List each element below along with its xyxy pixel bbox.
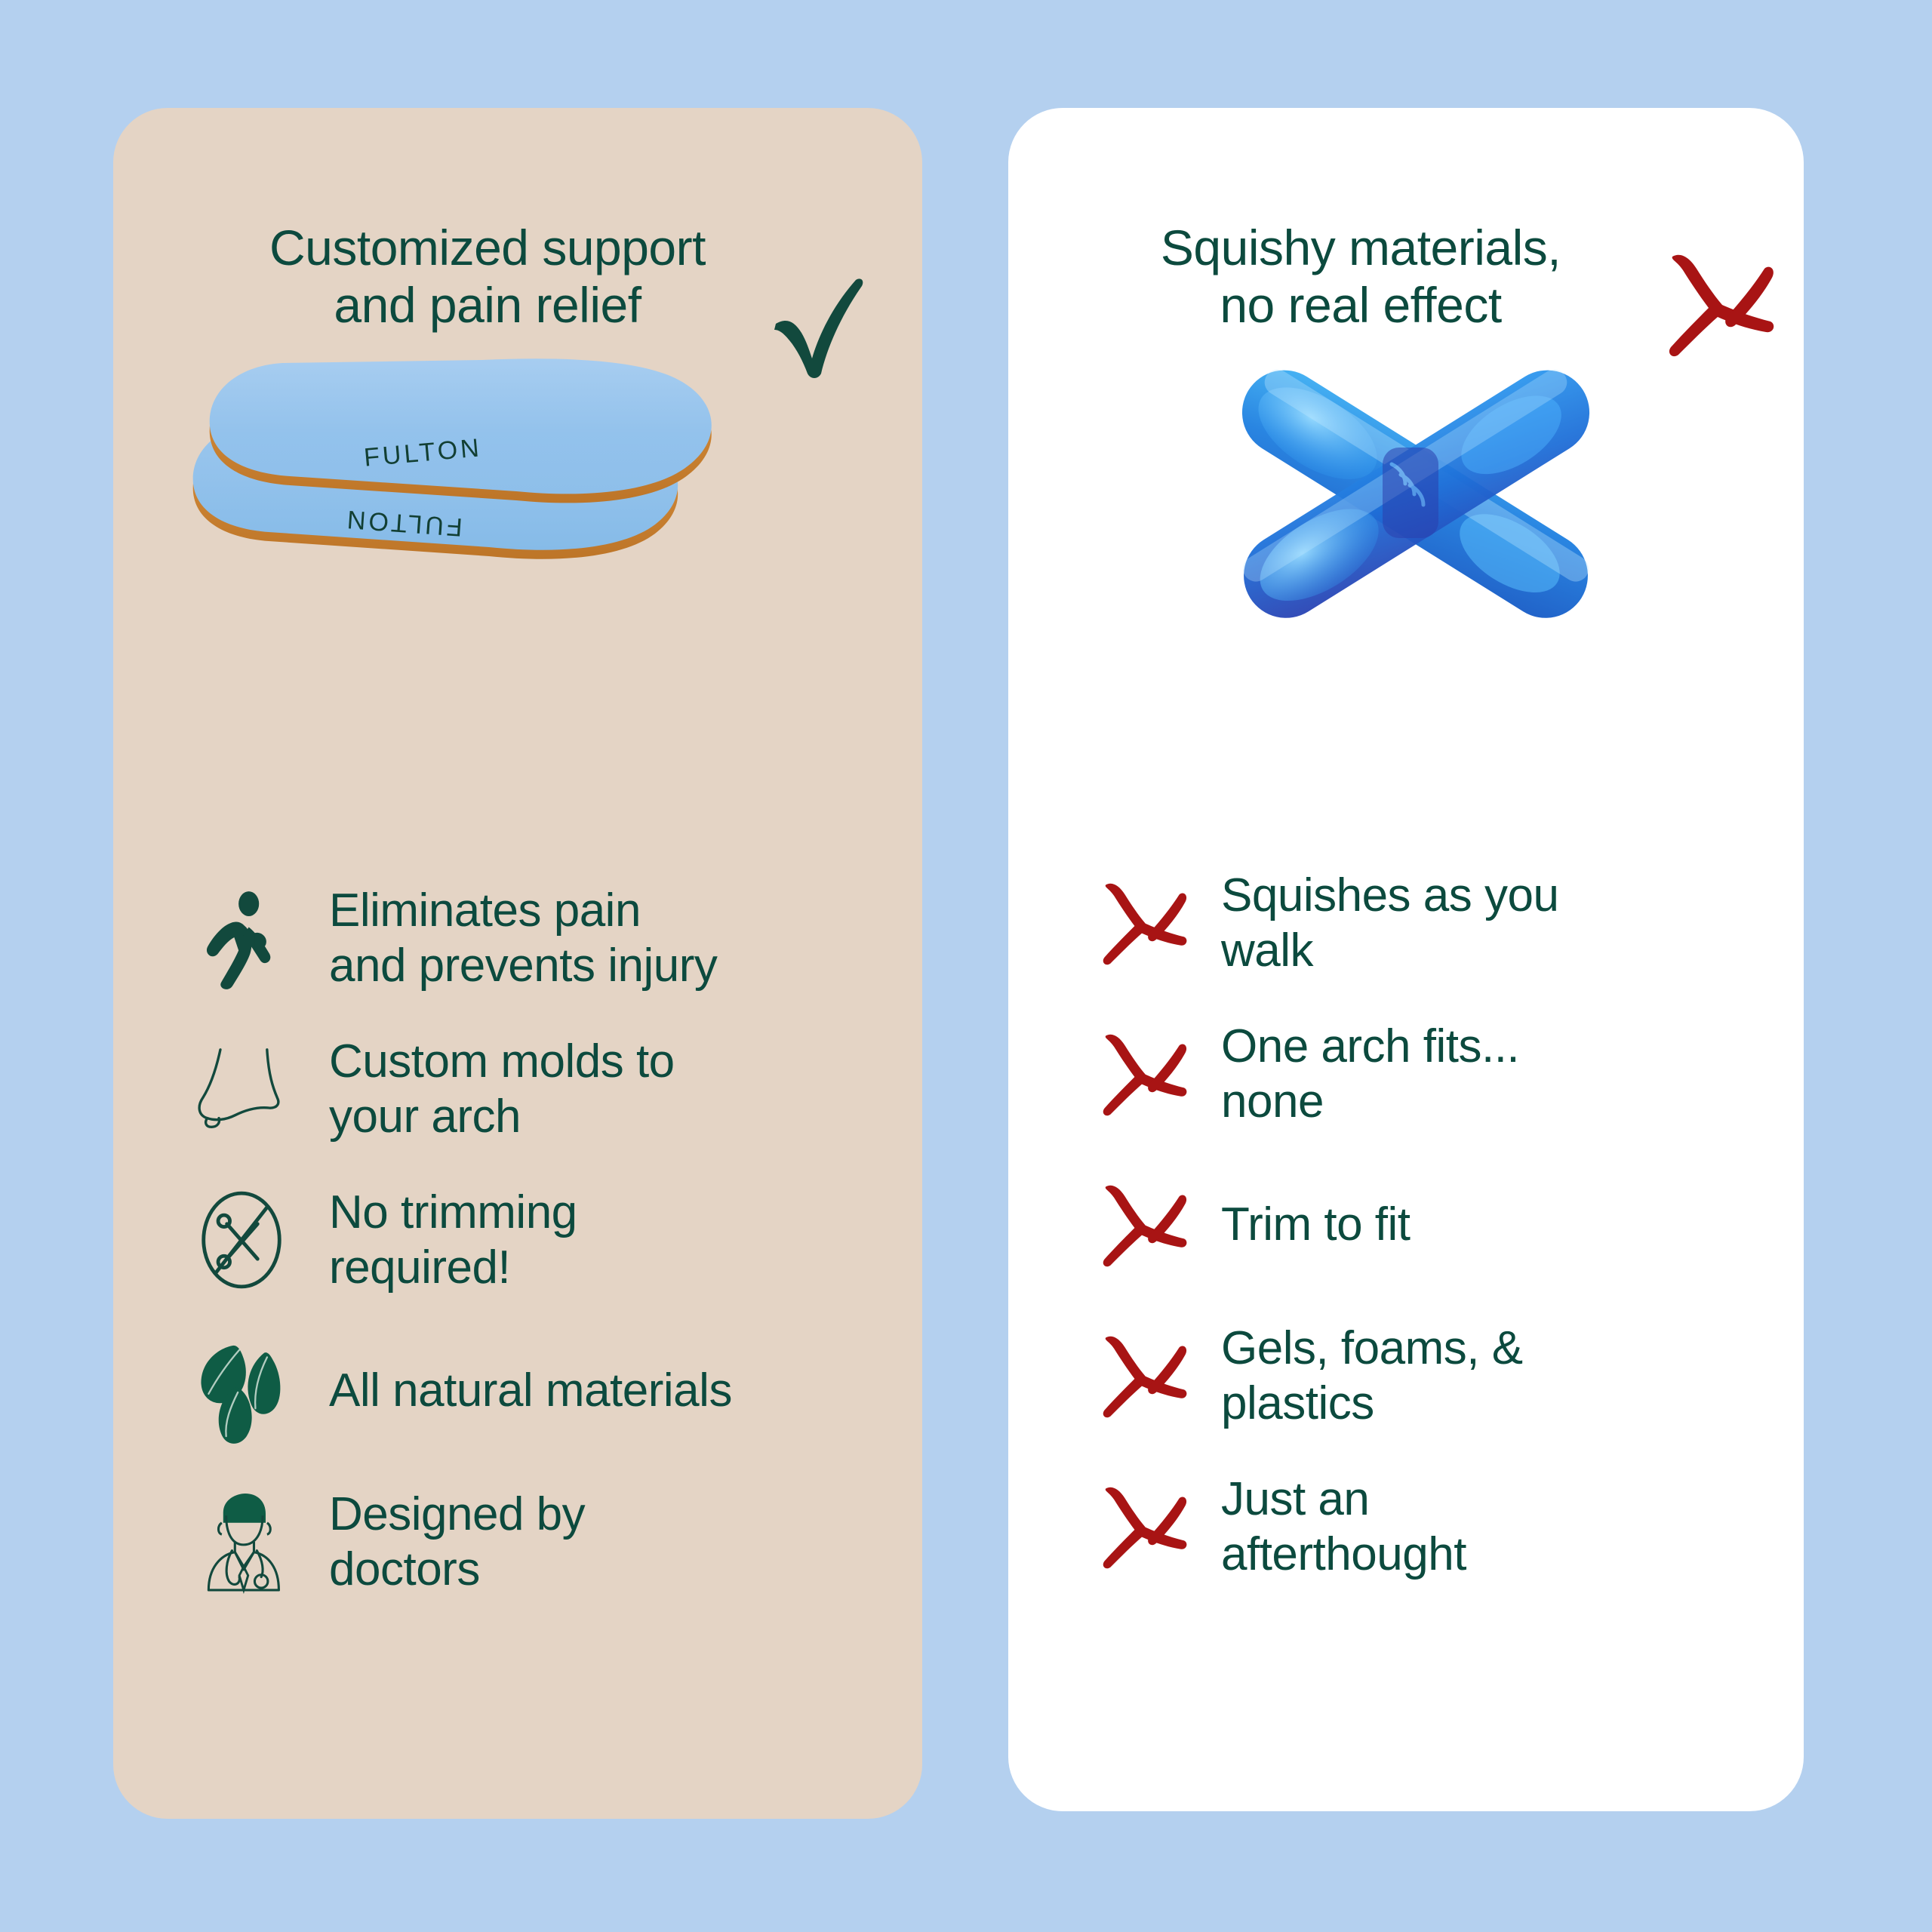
fulton-insoles-photo: FULTON FULTON	[166, 349, 875, 576]
insoles-illustration	[166, 349, 875, 576]
list-item: Gels, foams, & plastics	[1008, 1300, 1804, 1451]
list-item: Eliminates pain and prevents injury	[113, 863, 922, 1014]
x-icon	[1093, 1026, 1191, 1122]
list-item-label: Trim to fit	[1221, 1197, 1411, 1252]
blue-gel-insoles-photo	[1174, 334, 1657, 651]
pro-heading-line1: Customized support	[269, 220, 706, 275]
list-item-label: Just an afterthought	[1221, 1472, 1466, 1582]
pro-feature-list: Eliminates pain and prevents injury Cust…	[113, 863, 922, 1617]
list-item: Just an afterthought	[1008, 1451, 1804, 1602]
running-person-icon	[189, 885, 294, 991]
list-item-label: Squishes as you walk	[1221, 868, 1558, 978]
con-heading-line2: no real effect	[1220, 277, 1501, 333]
list-item: Custom molds to your arch	[113, 1014, 922, 1164]
gel-insoles-illustration	[1174, 334, 1657, 651]
list-item-label: Custom molds to your arch	[329, 1034, 675, 1144]
x-icon	[1093, 1478, 1191, 1575]
x-icon	[1093, 1177, 1191, 1273]
leaves-icon	[189, 1338, 294, 1444]
no-scissors-icon	[189, 1187, 294, 1293]
list-item: All natural materials	[113, 1315, 922, 1466]
con-heading-line1: Squishy materials,	[1161, 220, 1561, 275]
pro-panel: Customized support and pain relief	[113, 108, 922, 1819]
list-item: Trim to fit	[1008, 1149, 1804, 1300]
list-item-label: No trimming required!	[329, 1185, 577, 1295]
list-item: No trimming required!	[113, 1164, 922, 1315]
pro-heading-line2: and pain relief	[334, 277, 641, 333]
list-item: Designed by doctors	[113, 1466, 922, 1617]
x-icon	[1093, 875, 1191, 971]
doctor-icon	[189, 1489, 294, 1595]
list-item-label: Gels, foams, & plastics	[1221, 1321, 1523, 1431]
list-item-label: Designed by doctors	[329, 1487, 585, 1597]
list-item-label: One arch fits... none	[1221, 1019, 1519, 1129]
con-panel: Squishy materials, no real effect	[1008, 108, 1804, 1811]
list-item: One arch fits... none	[1008, 998, 1804, 1149]
list-item: Squishes as you walk	[1008, 848, 1804, 998]
foot-arch-outline-icon	[189, 1036, 294, 1142]
comparison-board: Customized support and pain relief	[0, 0, 1932, 1932]
con-feature-list: Squishes as you walk One arch fits... no…	[1008, 848, 1804, 1602]
x-icon	[1093, 1327, 1191, 1424]
list-item-label: Eliminates pain and prevents injury	[329, 883, 717, 993]
x-icon	[1657, 248, 1778, 361]
list-item-label: All natural materials	[329, 1363, 732, 1418]
